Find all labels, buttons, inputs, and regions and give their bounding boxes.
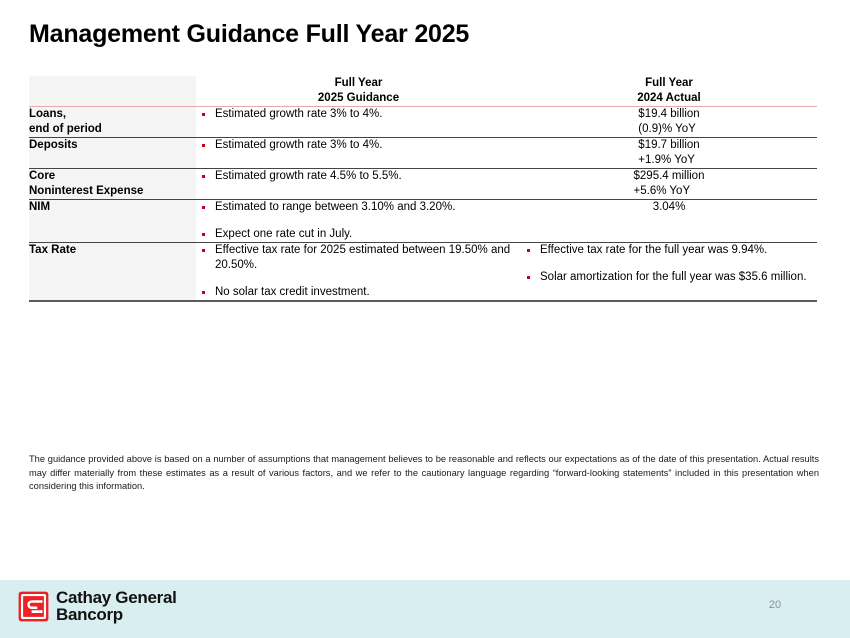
actual-value-line: $295.4 million xyxy=(634,169,705,184)
row-label: NIM xyxy=(29,200,196,243)
cathay-c-mark-icon xyxy=(18,591,49,622)
actual-value-line: +1.9% YoY xyxy=(638,153,699,168)
row-label-line1: NIM xyxy=(29,201,50,213)
table-header-actual-line2: 2024 Actual xyxy=(521,91,817,106)
brand-name: Cathay General Bancorp xyxy=(56,589,177,624)
management-guidance-table: Full Year 2025 Guidance Full Year 2024 A… xyxy=(29,76,817,302)
row-label-line1: Tax Rate xyxy=(29,244,76,256)
row-actual-cell: $19.4 billion(0.9)% YoY xyxy=(521,107,817,138)
row-label: Tax Rate xyxy=(29,243,196,302)
row-guidance-cell: Estimated growth rate 3% to 4%. xyxy=(196,107,521,138)
guidance-bullet-item: Estimated growth rate 3% to 4%. xyxy=(196,107,521,122)
actual-value-lines: $19.7 billion+1.9% YoY xyxy=(638,138,699,168)
guidance-bullet-list: Estimated growth rate 3% to 4%. xyxy=(196,138,521,153)
actual-value-line: +5.6% YoY xyxy=(634,184,705,199)
actual-value-lines: $295.4 million+5.6% YoY xyxy=(634,169,705,199)
actual-value-lines: $19.4 billion(0.9)% YoY xyxy=(638,107,699,137)
row-actual-cell: $19.7 billion+1.9% YoY xyxy=(521,138,817,169)
guidance-bullet-list: Estimated to range between 3.10% and 3.2… xyxy=(196,200,521,242)
actual-value-line: (0.9)% YoY xyxy=(638,122,699,137)
guidance-bullet-item: Effective tax rate for 2025 estimated be… xyxy=(196,243,521,273)
actual-value-block: $295.4 million+5.6% YoY xyxy=(521,169,817,199)
table-row: Loans,end of periodEstimated growth rate… xyxy=(29,107,817,138)
row-guidance-cell: Estimated to range between 3.10% and 3.2… xyxy=(196,200,521,243)
guidance-bullet-item: Expect one rate cut in July. xyxy=(196,227,521,242)
row-guidance-cell: Estimated growth rate 3% to 4%. xyxy=(196,138,521,169)
guidance-disclaimer-footnote: The guidance provided above is based on … xyxy=(29,453,819,494)
guidance-bullet-item: Estimated growth rate 3% to 4%. xyxy=(196,138,521,153)
row-label-line2: end of period xyxy=(29,122,196,137)
table-header-actual-line1: Full Year xyxy=(645,77,693,89)
actual-value-line: $19.4 billion xyxy=(638,107,699,122)
actual-bullet-list: Effective tax rate for the full year was… xyxy=(521,243,817,285)
table-row: DepositsEstimated growth rate 3% to 4%.$… xyxy=(29,138,817,169)
table-row: CoreNoninterest ExpenseEstimated growth … xyxy=(29,169,817,200)
guidance-bullet-list: Estimated growth rate 3% to 4%. xyxy=(196,107,521,122)
brand-name-line2: Bancorp xyxy=(56,606,177,624)
actual-value-line: $19.7 billion xyxy=(638,138,699,153)
table-header-guidance-line2: 2025 Guidance xyxy=(196,91,521,106)
row-guidance-cell: Estimated growth rate 4.5% to 5.5%. xyxy=(196,169,521,200)
page-title: Management Guidance Full Year 2025 xyxy=(29,20,469,49)
row-actual-cell: $295.4 million+5.6% YoY xyxy=(521,169,817,200)
table-row: Tax RateEffective tax rate for 2025 esti… xyxy=(29,243,817,302)
actual-value-block: $19.4 billion(0.9)% YoY xyxy=(521,107,817,137)
row-label: Deposits xyxy=(29,138,196,169)
row-label-line2: Noninterest Expense xyxy=(29,184,196,199)
brand-name-line1: Cathay General xyxy=(56,588,177,607)
row-actual-cell: 3.04% xyxy=(521,200,817,243)
table-header-blank xyxy=(29,76,196,107)
table-header-row: Full Year 2025 Guidance Full Year 2024 A… xyxy=(29,76,817,107)
table-header-guidance-line1: Full Year xyxy=(335,77,383,89)
row-label: Loans,end of period xyxy=(29,107,196,138)
guidance-bullet-list: Effective tax rate for 2025 estimated be… xyxy=(196,243,521,300)
row-label: CoreNoninterest Expense xyxy=(29,169,196,200)
actual-value-block: $19.7 billion+1.9% YoY xyxy=(521,138,817,168)
actual-bullet-item: Solar amortization for the full year was… xyxy=(521,270,817,285)
row-actual-cell: Effective tax rate for the full year was… xyxy=(521,243,817,302)
row-label-line1: Core xyxy=(29,170,55,182)
table-header-actual: Full Year 2024 Actual xyxy=(521,76,817,107)
guidance-bullet-item: Estimated growth rate 4.5% to 5.5%. xyxy=(196,169,521,184)
table-row: NIMEstimated to range between 3.10% and … xyxy=(29,200,817,243)
company-logo: Cathay General Bancorp xyxy=(18,589,177,623)
guidance-bullet-list: Estimated growth rate 4.5% to 5.5%. xyxy=(196,169,521,184)
guidance-bullet-item: Estimated to range between 3.10% and 3.2… xyxy=(196,200,521,215)
slide-canvas: Management Guidance Full Year 2025 Full … xyxy=(0,0,850,638)
row-label-line1: Deposits xyxy=(29,139,78,151)
row-guidance-cell: Effective tax rate for 2025 estimated be… xyxy=(196,243,521,302)
page-number: 20 xyxy=(760,599,790,611)
guidance-bullet-item: No solar tax credit investment. xyxy=(196,285,521,300)
actual-value-block: 3.04% xyxy=(521,200,817,215)
actual-value-line: 3.04% xyxy=(653,201,686,213)
table-header-guidance: Full Year 2025 Guidance xyxy=(196,76,521,107)
row-label-line1: Loans, xyxy=(29,108,66,120)
actual-value-lines: 3.04% xyxy=(653,201,686,213)
table-body: Loans,end of periodEstimated growth rate… xyxy=(29,107,817,302)
actual-bullet-item: Effective tax rate for the full year was… xyxy=(521,243,817,258)
